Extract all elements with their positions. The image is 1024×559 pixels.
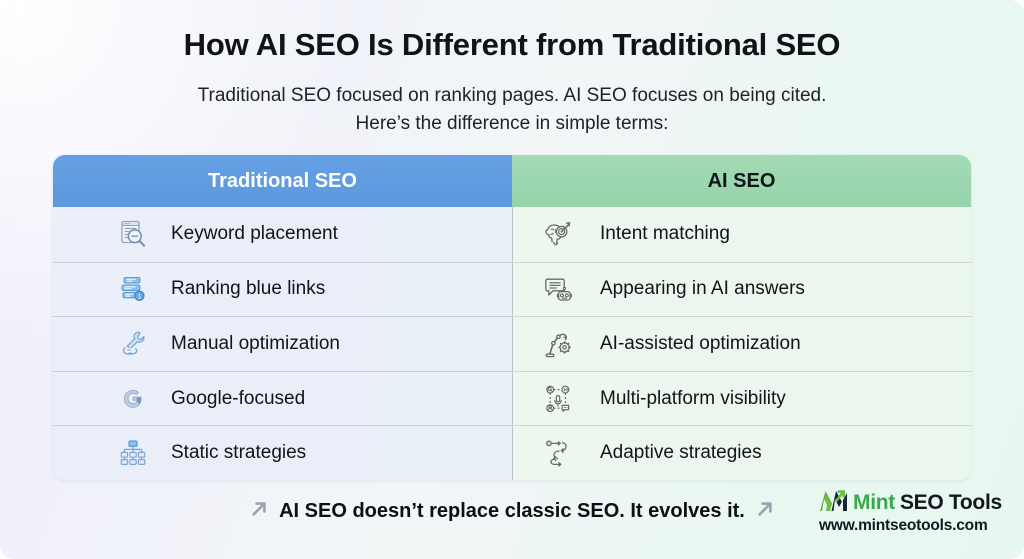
- table-cell-ai: Multi-platform visibility: [512, 371, 971, 426]
- table-cell-traditional: Google-focused: [53, 371, 512, 426]
- svg-text:1: 1: [138, 294, 142, 301]
- table-row: Google-focused: [53, 371, 971, 426]
- column-header-ai-seo: AI SEO: [512, 155, 971, 207]
- brain-target-icon: [538, 214, 578, 254]
- table-cell-ai: Adaptive strategies: [512, 425, 971, 480]
- table-cell-ai: Intent matching: [512, 207, 971, 262]
- hierarchy-tree-icon: [113, 433, 153, 473]
- table-cell-traditional: Manual optimization: [53, 316, 512, 371]
- cell-label: Ranking blue links: [171, 278, 325, 300]
- multi-platform-nodes-icon: [538, 379, 578, 419]
- cell-label: Keyword placement: [171, 223, 338, 245]
- cell-label: Appearing in AI answers: [600, 278, 805, 300]
- logo-name-mint: Mint: [853, 491, 895, 515]
- comparison-table: Traditional SEO AI SEO: [53, 155, 971, 480]
- table-cell-traditional: Keyword placement: [53, 207, 512, 262]
- table-header-row: Traditional SEO AI SEO: [53, 155, 971, 207]
- document-magnifier-icon: [113, 214, 153, 254]
- cell-label: Google-focused: [171, 388, 305, 410]
- logo-name-seo-tools: SEO Tools: [900, 491, 1002, 515]
- table-row: Keyword placement: [53, 207, 971, 262]
- table-cell-ai: AI-assisted optimization: [512, 316, 971, 371]
- table-cell-traditional: 1 Ranking blue links: [53, 262, 512, 317]
- cell-label: Manual optimization: [171, 333, 340, 355]
- chat-robot-icon: [538, 269, 578, 309]
- robot-arm-gear-icon: [538, 324, 578, 364]
- cell-label: AI-assisted optimization: [600, 333, 801, 355]
- column-header-label: AI SEO: [708, 170, 776, 193]
- google-g-icon: [113, 379, 153, 419]
- table-cell-ai: Appearing in AI answers: [512, 262, 971, 317]
- ranked-list-badge-icon: 1: [113, 269, 153, 309]
- hand-wrench-icon: [113, 324, 153, 364]
- cell-label: Multi-platform visibility: [600, 388, 786, 410]
- column-header-label: Traditional SEO: [208, 170, 357, 193]
- table-row: 1 Ranking blue links: [53, 262, 971, 317]
- footer-text: AI SEO doesn’t replace classic SEO. It e…: [279, 500, 745, 523]
- arrow-up-right-icon: [754, 498, 776, 525]
- cell-label: Intent matching: [600, 223, 730, 245]
- brand-logo[interactable]: Mint SEO Tools www.mintseotools.com: [818, 489, 1008, 539]
- table-row: Manual optimization: [53, 316, 971, 371]
- subtitle-line-1: Traditional SEO focused on ranking pages…: [198, 85, 827, 106]
- page-subtitle: Traditional SEO focused on ranking pages…: [0, 82, 1024, 138]
- arrow-up-right-icon: [248, 498, 270, 525]
- cell-label: Static strategies: [171, 442, 306, 464]
- column-header-traditional-seo: Traditional SEO: [53, 155, 512, 207]
- table-body: Keyword placement: [53, 207, 971, 480]
- table-row: Static strategies: [53, 425, 971, 480]
- cyclic-arrows-icon: [538, 433, 578, 473]
- subtitle-line-2: Here’s the difference in simple terms:: [0, 110, 1024, 138]
- mint-m-arrow-icon: [818, 487, 852, 518]
- cell-label: Adaptive strategies: [600, 442, 762, 464]
- table-cell-traditional: Static strategies: [53, 425, 512, 480]
- logo-url: www.mintseotools.com: [819, 517, 1008, 535]
- infographic-canvas: How AI SEO Is Different from Traditional…: [0, 0, 1024, 559]
- page-title: How AI SEO Is Different from Traditional…: [0, 27, 1024, 63]
